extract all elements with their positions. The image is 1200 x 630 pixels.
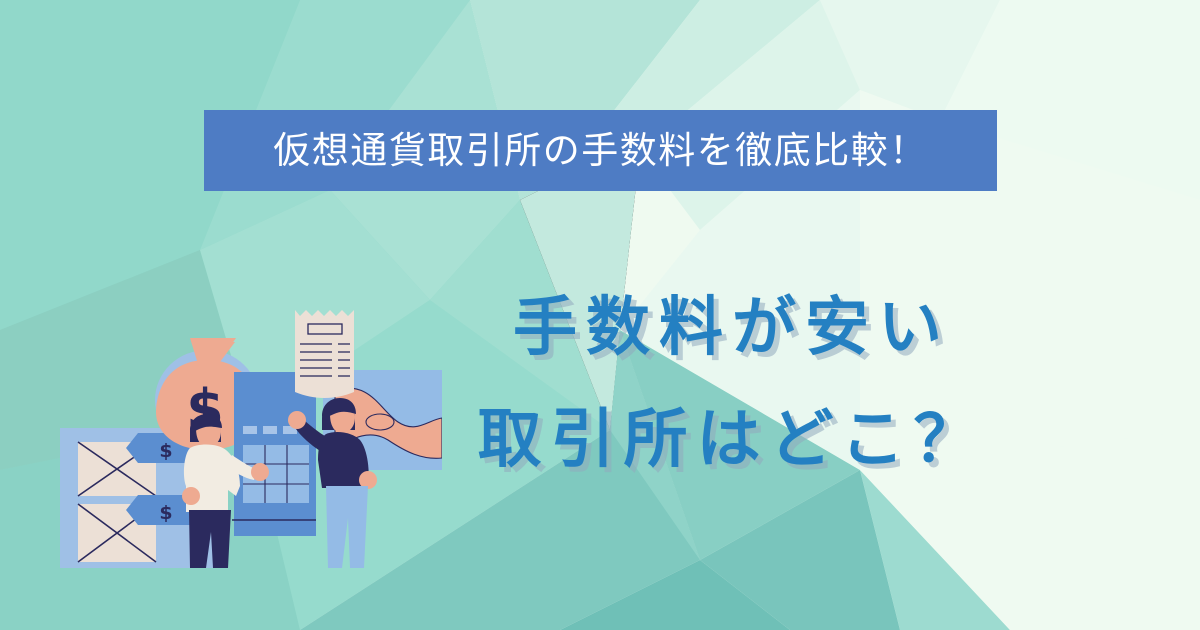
illustration-svg: $ $ $ [50,300,450,570]
headline-line-2: 取引所はどこ？ [452,384,1012,496]
headline-line-1: 手数料が安い [452,272,1012,384]
svg-text:$: $ [159,502,172,524]
title-band: 仮想通貨取引所の手数料を徹底比較！ [204,110,997,191]
receipt-document [295,310,354,398]
finance-illustration: $ $ $ [50,300,450,570]
grid-panel [232,372,316,536]
headline-block: 手数料が安い 取引所はどこ？ [452,272,1012,496]
banner-canvas: 仮想通貨取引所の手数料を徹底比較！ 手数料が安い 取引所はどこ？ [0,0,1200,630]
svg-text:$: $ [159,440,172,462]
title-band-text: 仮想通貨取引所の手数料を徹底比較！ [273,132,928,169]
